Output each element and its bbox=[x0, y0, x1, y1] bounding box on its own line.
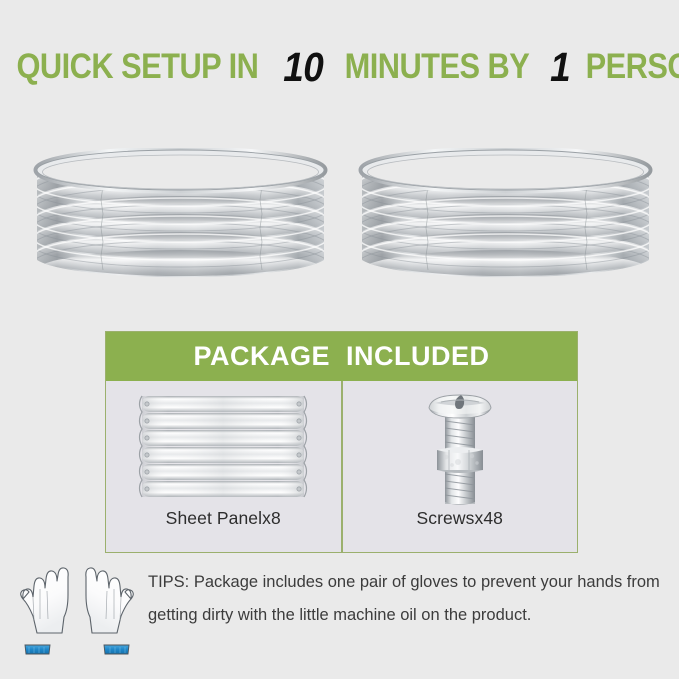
work-gloves-icon bbox=[12, 563, 142, 663]
package-header-word-2: INCLUDED bbox=[346, 341, 490, 372]
package-included-header: PACKAGE INCLUDED bbox=[106, 332, 577, 381]
headline-person-number: 1 bbox=[548, 44, 572, 90]
package-header-word-1: PACKAGE bbox=[193, 341, 330, 372]
package-included-panel: PACKAGE INCLUDED bbox=[105, 331, 578, 553]
package-item-screws: Screwsx48 bbox=[341, 381, 578, 552]
tips-text: TIPS: Package includes one pair of glove… bbox=[148, 566, 668, 632]
glove-left bbox=[21, 568, 68, 654]
headline-minutes-number: 10 bbox=[282, 44, 326, 90]
headline-part-3: PERSON bbox=[586, 44, 679, 90]
glove-right bbox=[86, 568, 133, 654]
headline-part-2: MINUTES BY bbox=[345, 44, 530, 90]
screws-label: Screwsx48 bbox=[417, 508, 504, 529]
headline-banner: QUICK SETUP IN 10 MINUTES BY 1 PERSON bbox=[0, 44, 679, 90]
package-item-sheet-panel: Sheet Panelx8 bbox=[106, 381, 341, 552]
screw-nut-icon bbox=[417, 389, 503, 507]
sheet-panel-label: Sheet Panelx8 bbox=[166, 508, 281, 529]
package-items-row: Sheet Panelx8 bbox=[106, 381, 577, 552]
headline-part-1: QUICK SETUP IN bbox=[16, 44, 258, 90]
garden-bed-image-right bbox=[354, 148, 657, 300]
sheet-panel-icon bbox=[136, 389, 310, 507]
garden-bed-image-left bbox=[29, 148, 332, 300]
